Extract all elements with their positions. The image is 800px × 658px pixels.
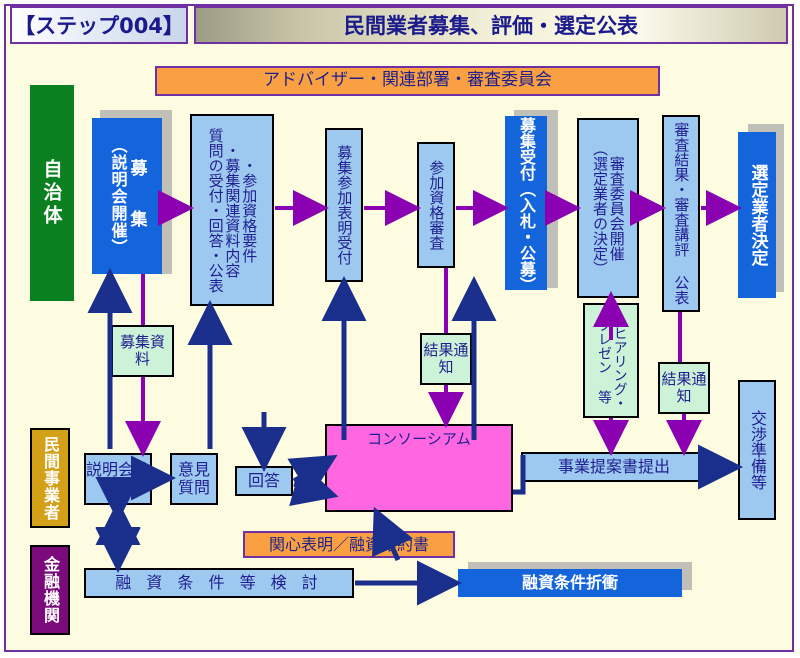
gov-box-hyomei[interactable]: 募集参加表明受付 — [325, 128, 363, 282]
note-boshu-shiryo-label: 募集資料 — [113, 334, 172, 368]
consortium-title: コンソーシアム — [327, 428, 511, 449]
iinkai-sub: （選定業者の決定） — [591, 141, 608, 276]
gov-box-sentei[interactable]: 選定業者決定 — [738, 132, 776, 298]
role-bar-private: 民間事業者 — [30, 428, 70, 528]
advisor-bar: アドバイザー・関連部署・審査委員会 — [155, 66, 660, 96]
finance-review-box[interactable]: 融 資 条 件 等 検 討 — [84, 568, 354, 598]
diagram-page: 【ステップ004】 民間業者募集、評価・選定公表 自治体 民間事業者 金融機関 … — [0, 0, 800, 658]
priv-box-iken-label: 意見質問 — [172, 461, 216, 497]
priv-box-kaito-label: 回答 — [248, 472, 280, 490]
step-badge: 【ステップ004】 — [10, 6, 188, 44]
header: 【ステップ004】 民間業者募集、評価・選定公表 — [10, 6, 788, 44]
shiryo-line-3: ・参加資格要件 — [240, 158, 257, 263]
role-bar-gov: 自治体 — [30, 85, 74, 301]
gov-box-uketsuke[interactable]: 募集受付（入札・公募） — [505, 116, 547, 290]
gov-box-boshu[interactable]: （説明会開催） 募 集 — [92, 118, 162, 274]
shiryo-line-1: 質問の受付・回答・公表 — [207, 128, 224, 293]
note-kekka-tsuchi-2[interactable]: 結果通知 — [658, 362, 710, 414]
shiryo-line-2: ・募集関連資料内容 — [224, 143, 241, 278]
page-title: 民間業者募集、評価・選定公表 — [194, 6, 788, 44]
finance-interest-box[interactable]: 関心表明／融資確約書 — [243, 531, 455, 558]
gov-box-kekka-kohyo[interactable]: 審査結果・審査講評 公表 — [662, 115, 700, 312]
gov-box-shiryo[interactable]: 質問の受付・回答・公表 ・募集関連資料内容 ・参加資格要件 — [190, 114, 274, 306]
gov-box-boshu-sub: （説明会開催） — [109, 137, 127, 256]
priv-box-iken[interactable]: 意見質問 — [170, 453, 218, 505]
priv-box-kaito[interactable]: 回答 — [235, 466, 293, 496]
note-boshu-shiryo[interactable]: 募集資料 — [111, 325, 174, 377]
iinkai-main: 審査委員会開催 — [608, 156, 625, 261]
submit-box-label: 事業提案書提出 — [558, 458, 670, 476]
note-kekka-tsuchi-1-label: 結果通知 — [422, 342, 470, 376]
submit-box[interactable]: 事業提案書提出 — [521, 452, 707, 482]
gov-box-iinkai[interactable]: （選定業者の決定） 審査委員会開催 — [577, 118, 639, 298]
priv-box-setsumeikai-label: 説明会参加 — [86, 461, 150, 497]
gov-box-shikaku[interactable]: 参加資格審査 — [417, 142, 455, 268]
note-kekka-tsuchi-2-label: 結果通知 — [660, 371, 708, 405]
gov-box-boshu-main: 募 集 — [126, 159, 145, 234]
finance-nego-box[interactable]: 融資条件折衝 — [458, 569, 682, 597]
note-hearing[interactable]: ・ヒアリング・プレゼン 等 — [583, 303, 639, 418]
role-bar-finance: 金融機関 — [30, 545, 70, 635]
priv-box-setsumeikai[interactable]: 説明会参加 — [84, 453, 152, 505]
prep-box[interactable]: 交渉準備等 — [738, 380, 776, 520]
note-kekka-tsuchi-1[interactable]: 結果通知 — [420, 333, 472, 385]
consortium-box: コンソーシアム 参加企業調整等 事業提案書作成 — [325, 424, 513, 512]
